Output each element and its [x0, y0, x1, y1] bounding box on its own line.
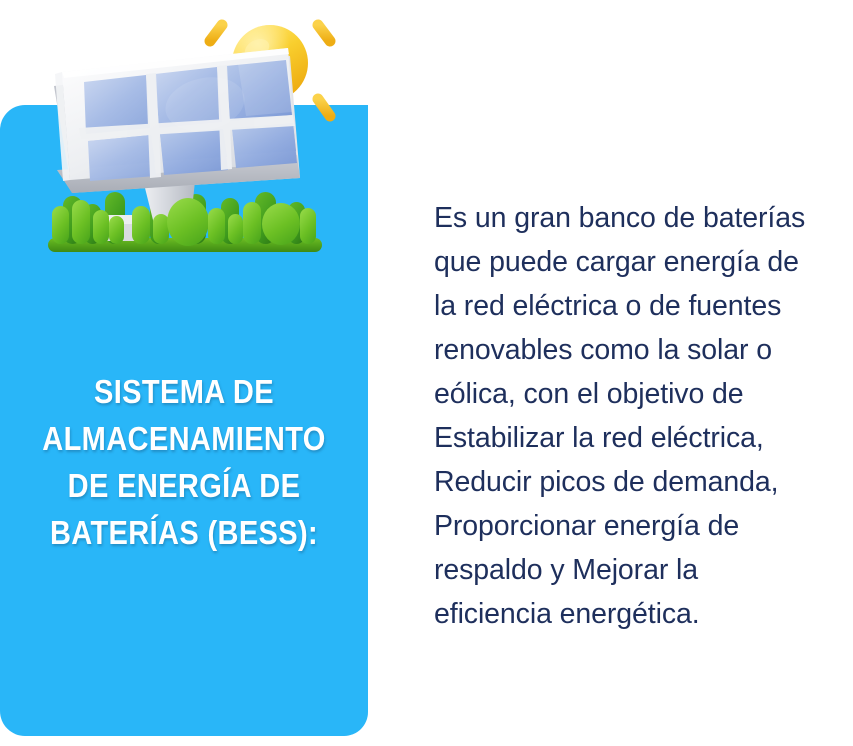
sun-icon [232, 25, 308, 101]
description-paragraph: Es un gran banco de baterías que puede c… [434, 196, 814, 636]
info-card-canvas: SISTEMA DE ALMACENAMIENTO DE ENERGÍA DE … [0, 0, 853, 746]
panel-title: SISTEMA DE ALMACENAMIENTO DE ENERGÍA DE … [22, 368, 346, 556]
